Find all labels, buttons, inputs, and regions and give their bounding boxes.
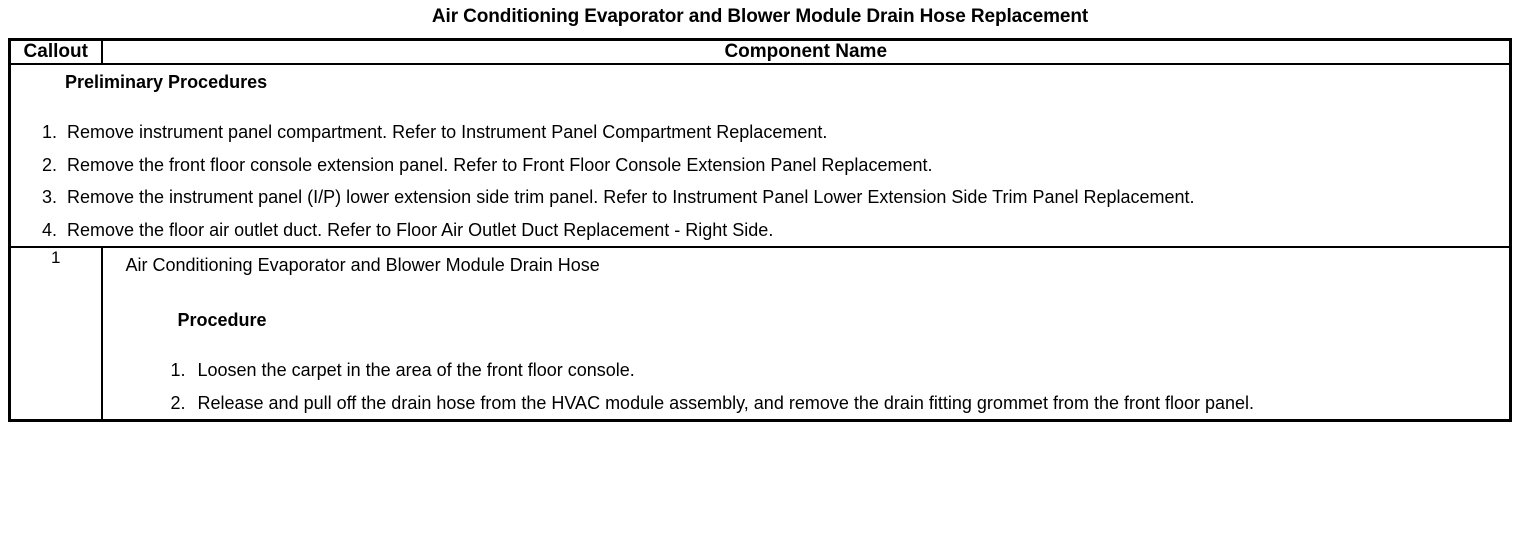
- document-page: Air Conditioning Evaporator and Blower M…: [0, 0, 1520, 534]
- list-item-number: 2.: [156, 387, 186, 420]
- procedure-table: Callout Component Name Preliminary Proce…: [8, 38, 1512, 422]
- list-item: 2. Release and pull off the drain hose f…: [142, 387, 1510, 420]
- callout-number: 1: [10, 247, 102, 421]
- list-item: 3. Remove the instrument panel (I/P) low…: [11, 181, 1509, 214]
- list-item: 1. Loosen the carpet in the area of the …: [142, 354, 1510, 387]
- list-item-number: 4.: [27, 214, 57, 247]
- list-item-text: Remove the front floor console extension…: [67, 149, 1509, 182]
- column-header-component-name: Component Name: [102, 40, 1511, 65]
- list-item: 2. Remove the front floor console extens…: [11, 149, 1509, 182]
- list-item: 4. Remove the floor air outlet duct. Ref…: [11, 214, 1509, 247]
- list-item-text: Remove instrument panel compartment. Ref…: [67, 116, 1509, 149]
- column-header-callout: Callout: [10, 40, 102, 65]
- list-item: 1. Remove instrument panel compartment. …: [11, 116, 1509, 149]
- list-item-text: Remove the instrument panel (I/P) lower …: [67, 181, 1509, 214]
- preliminary-steps-list: 1. Remove instrument panel compartment. …: [11, 116, 1509, 246]
- page-title: Air Conditioning Evaporator and Blower M…: [0, 0, 1520, 29]
- list-item-number: 2.: [27, 149, 57, 182]
- list-item-number: 1.: [156, 354, 186, 387]
- component-name-text: Air Conditioning Evaporator and Blower M…: [103, 248, 1510, 278]
- list-item-number: 1.: [27, 116, 57, 149]
- list-item-text: Release and pull off the drain hose from…: [198, 387, 1510, 420]
- preliminary-procedures-heading: Preliminary Procedures: [11, 65, 1509, 94]
- procedure-steps-list: 1. Loosen the carpet in the area of the …: [103, 354, 1510, 419]
- component-detail-cell: Air Conditioning Evaporator and Blower M…: [102, 247, 1511, 421]
- table-row-preliminary: Preliminary Procedures 1. Remove instrum…: [10, 64, 1511, 247]
- list-item-number: 3.: [27, 181, 57, 214]
- preliminary-procedures-cell: Preliminary Procedures 1. Remove instrum…: [10, 64, 1511, 247]
- table-header-row: Callout Component Name: [10, 40, 1511, 65]
- procedure-heading: Procedure: [103, 278, 1510, 332]
- list-item-text: Loosen the carpet in the area of the fro…: [198, 354, 1510, 387]
- list-item-text: Remove the floor air outlet duct. Refer …: [67, 214, 1509, 247]
- table-row: 1 Air Conditioning Evaporator and Blower…: [10, 247, 1511, 421]
